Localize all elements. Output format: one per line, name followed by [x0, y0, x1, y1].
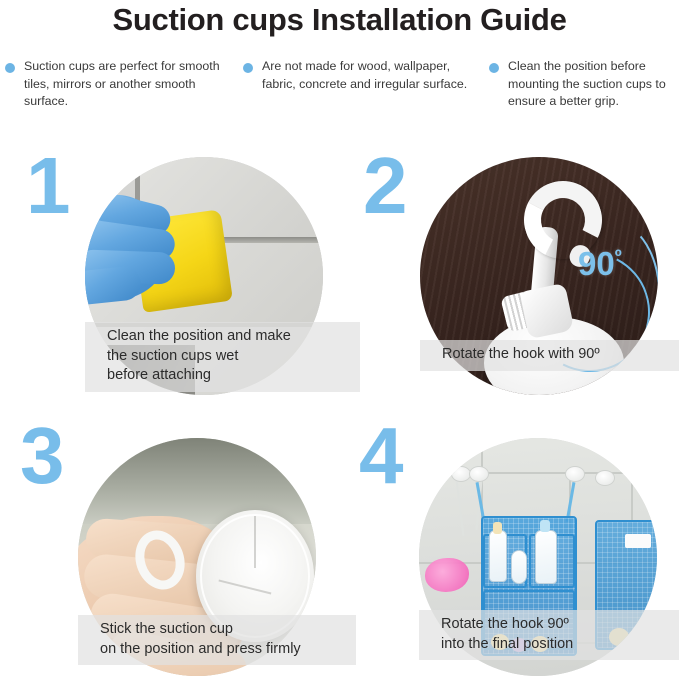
angle-value: 90 [578, 245, 615, 282]
step-caption: Clean the position and make the suction … [85, 322, 360, 392]
bullet-item: Clean the position before mounting the s… [489, 58, 679, 111]
suction-cup-hook [469, 466, 489, 482]
suction-cup-hook [595, 470, 615, 486]
bullet-text: Are not made for wood, wallpaper, fabric… [262, 58, 473, 93]
lever [520, 283, 575, 340]
step-caption: Rotate the hook with 90º [420, 340, 679, 371]
step-number: 2 [363, 146, 408, 226]
step-number: 3 [20, 416, 65, 496]
suction-cup-hook [565, 466, 585, 482]
step-panel-1: 1 Clean the position and make the suctio… [0, 140, 340, 413]
step-panel-4: 4 [339, 410, 679, 683]
bullet-dot-icon [5, 63, 15, 73]
step-panel-3: 3 Stick the suction cup on the position … [0, 410, 340, 683]
suction-cup-hook [451, 466, 471, 482]
step-caption: Rotate the hook 90º into the final posit… [419, 610, 679, 660]
infographic-page: Suction cups Installation Guide Suction … [0, 0, 679, 686]
bullet-item: Are not made for wood, wallpaper, fabric… [243, 58, 473, 93]
bullet-dot-icon [489, 63, 499, 73]
page-title: Suction cups Installation Guide [0, 2, 679, 38]
angle-annotation-label: 90º [578, 245, 622, 283]
step-caption: Stick the suction cup on the position an… [78, 615, 356, 665]
bullet-text: Suction cups are perfect for smooth tile… [24, 58, 230, 111]
bullet-item: Suction cups are perfect for smooth tile… [5, 58, 230, 111]
bullet-text: Clean the position before mounting the s… [508, 58, 679, 111]
step-number: 4 [359, 416, 404, 496]
step-panel-2: 2 90º Rotate the hook with 90º [339, 140, 679, 413]
angle-unit: º [615, 247, 622, 268]
step-number: 1 [26, 146, 71, 226]
feature-bullet-list: Suction cups are perfect for smooth tile… [0, 58, 679, 130]
bullet-dot-icon [243, 63, 253, 73]
